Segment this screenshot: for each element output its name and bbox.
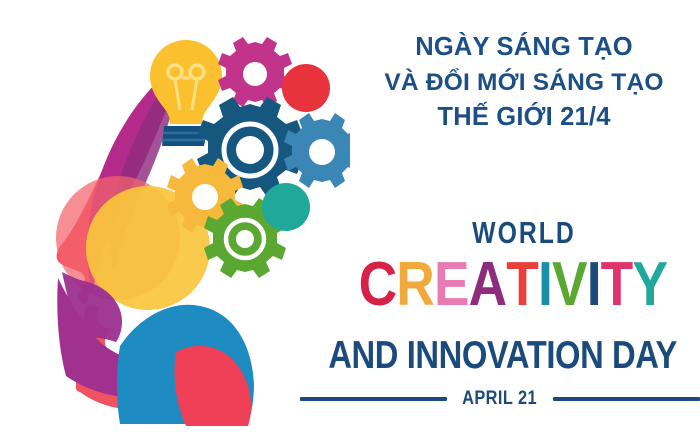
april-date-label: APRIL 21 (463, 388, 538, 410)
logo-word-innovation: AND INNOVATION DAY (328, 334, 667, 378)
creativity-letter-4: T (506, 252, 538, 318)
poster-canvas: NGÀY SÁNG TẠO VÀ ĐỔI MỚI SÁNG TẠO THẾ GI… (0, 0, 700, 438)
rule-left (300, 397, 447, 401)
creativity-letter-6: V (552, 252, 587, 318)
vietnamese-heading-line-1: NGÀY SÁNG TẠO (348, 30, 700, 65)
creativity-letter-1: R (396, 252, 434, 318)
creativity-letter-5: I (538, 252, 552, 318)
gear-magenta-icon (218, 37, 292, 107)
creativity-letter-7: I (587, 252, 601, 318)
text-column: NGÀY SÁNG TẠO VÀ ĐỔI MỚI SÁNG TẠO THẾ GI… (348, 0, 700, 438)
dot-red-circle (282, 64, 330, 112)
vietnamese-heading-line-3: THẾ GIỚI 21/4 (348, 100, 700, 135)
rule-right (553, 397, 700, 401)
creativity-letter-8: T (601, 252, 633, 318)
april-date-row: APRIL 21 (300, 388, 700, 410)
creativity-letter-3: A (469, 252, 507, 318)
logo-word-world: WORLD (383, 216, 665, 250)
creativity-letter-9: Y (632, 252, 667, 318)
creativity-letter-2: E (434, 252, 469, 318)
creativity-letter-0: C (359, 252, 397, 318)
head-illustration-svg (0, 0, 350, 438)
dot-teal-circle (262, 183, 310, 231)
head-illustration (0, 0, 350, 438)
vietnamese-heading-line-2: VÀ ĐỔI MỚI SÁNG TẠO (348, 65, 700, 100)
logo-word-creativity: CREATIVITY (359, 252, 662, 318)
vietnamese-heading: NGÀY SÁNG TẠO VÀ ĐỔI MỚI SÁNG TẠO THẾ GI… (348, 30, 700, 135)
